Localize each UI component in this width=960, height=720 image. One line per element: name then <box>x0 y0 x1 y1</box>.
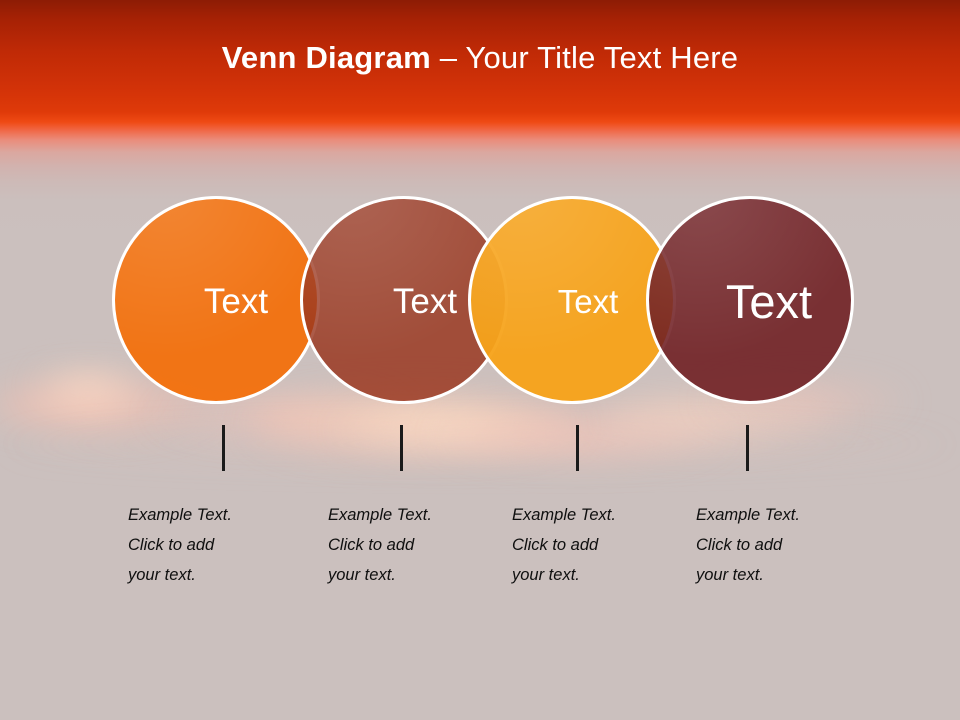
caption-block-3[interactable]: Example Text. Click to add your text. <box>512 500 682 590</box>
caption-1-line-1: Example Text. <box>128 500 298 530</box>
venn-circle-3-label: Text <box>558 285 619 318</box>
caption-2-line-2: Click to add <box>328 530 498 560</box>
caption-4-line-2: Click to add <box>696 530 866 560</box>
venn-diagram: Text Text Text Text <box>0 0 960 720</box>
caption-block-4[interactable]: Example Text. Click to add your text. <box>696 500 866 590</box>
caption-4-line-1: Example Text. <box>696 500 866 530</box>
caption-2-line-1: Example Text. <box>328 500 498 530</box>
caption-3-line-1: Example Text. <box>512 500 682 530</box>
venn-circle-3[interactable]: Text <box>468 196 676 404</box>
caption-4-line-3: your text. <box>696 560 866 590</box>
connector-line-4 <box>746 425 749 471</box>
venn-circle-1[interactable]: Text <box>112 196 320 404</box>
caption-1-line-3: your text. <box>128 560 298 590</box>
caption-block-1[interactable]: Example Text. Click to add your text. <box>128 500 298 590</box>
caption-3-line-2: Click to add <box>512 530 682 560</box>
venn-circle-4-label: Text <box>726 278 812 325</box>
connector-line-1 <box>222 425 225 471</box>
caption-1-line-2: Click to add <box>128 530 298 560</box>
connector-line-2 <box>400 425 403 471</box>
venn-circle-4[interactable]: Text <box>646 196 854 404</box>
connector-line-3 <box>576 425 579 471</box>
caption-3-line-3: your text. <box>512 560 682 590</box>
venn-circle-1-label: Text <box>204 284 268 319</box>
caption-2-line-3: your text. <box>328 560 498 590</box>
slide-canvas: Venn Diagram – Your Title Text Here Text… <box>0 0 960 720</box>
venn-circle-2-label: Text <box>393 284 457 319</box>
caption-block-2[interactable]: Example Text. Click to add your text. <box>328 500 498 590</box>
